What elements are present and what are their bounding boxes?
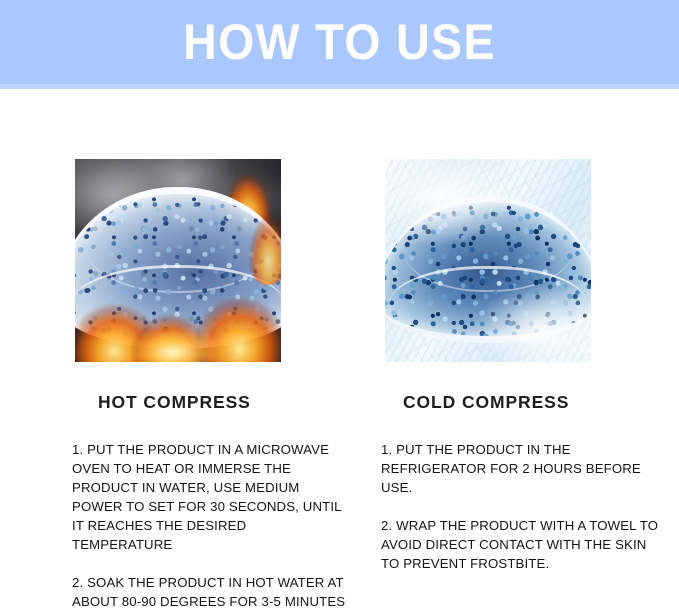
header-banner-bottom-edge xyxy=(0,84,679,89)
hot-compress-column xyxy=(72,159,372,362)
instruction-step: 1. PUT THE PRODUCT IN A MICROWAVE OVEN T… xyxy=(72,440,350,554)
page-title: HOW TO USE xyxy=(24,0,655,84)
hot-compress-instructions: 1. PUT THE PRODUCT IN A MICROWAVE OVEN T… xyxy=(72,440,350,611)
cold-compress-instructions: 1. PUT THE PRODUCT IN THE REFRIGERATOR F… xyxy=(381,440,659,573)
frost-glow xyxy=(385,159,591,362)
cold-compress-product-image xyxy=(385,159,591,362)
instruction-step: 2. WRAP THE PRODUCT WITH A TOWEL TO AVOI… xyxy=(381,516,659,573)
instruction-step: 2. SOAK THE PRODUCT IN HOT WATER AT ABOU… xyxy=(72,573,350,611)
cold-compress-heading: COLD COMPRESS xyxy=(403,394,569,412)
instruction-step: 1. PUT THE PRODUCT IN THE REFRIGERATOR F… xyxy=(381,440,659,497)
hot-compress-heading: HOT COMPRESS xyxy=(98,394,251,412)
cold-compress-column xyxy=(381,159,679,362)
flame-glow xyxy=(112,325,236,362)
hot-compress-product-image xyxy=(75,159,281,362)
